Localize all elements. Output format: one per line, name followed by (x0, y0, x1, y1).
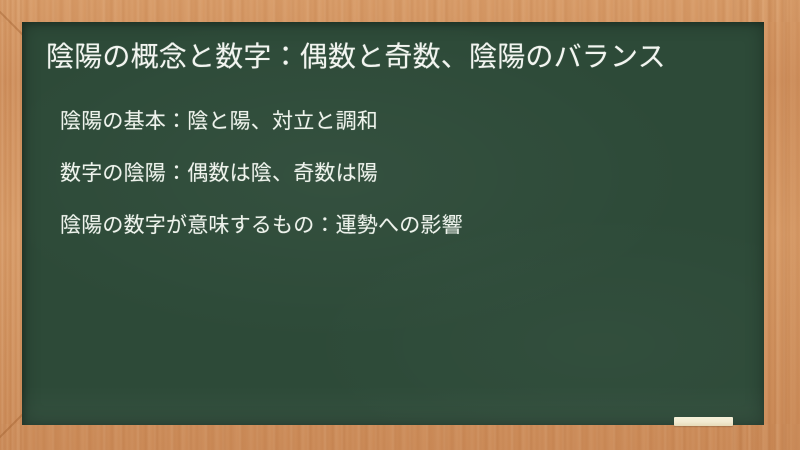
frame-grain-top (0, 0, 800, 22)
chalkboard-title-card: 陰陽の概念と数字：偶数と奇数、陰陽のバランス 陰陽の基本：陰と陽、対立と調和 数… (0, 0, 800, 450)
chalkboard-surface: 陰陽の概念と数字：偶数と奇数、陰陽のバランス 陰陽の基本：陰と陽、対立と調和 数… (22, 22, 764, 425)
list-item: 数字の陰陽：偶数は陰、奇数は陽 (46, 163, 742, 184)
frame-grain-left (0, 0, 24, 450)
chalk-stick-icon (674, 417, 733, 426)
page-title: 陰陽の概念と数字：偶数と奇数、陰陽のバランス (46, 38, 742, 77)
chalkboard-content: 陰陽の概念と数字：偶数と奇数、陰陽のバランス 陰陽の基本：陰と陽、対立と調和 数… (22, 22, 764, 425)
list-item: 陰陽の基本：陰と陽、対立と調和 (46, 111, 742, 132)
topic-list: 陰陽の基本：陰と陽、対立と調和 数字の陰陽：偶数は陰、奇数は陽 陰陽の数字が意味… (46, 111, 742, 236)
frame-grain-bottom (0, 424, 800, 450)
list-item: 陰陽の数字が意味するもの：運勢への影響 (46, 215, 742, 236)
